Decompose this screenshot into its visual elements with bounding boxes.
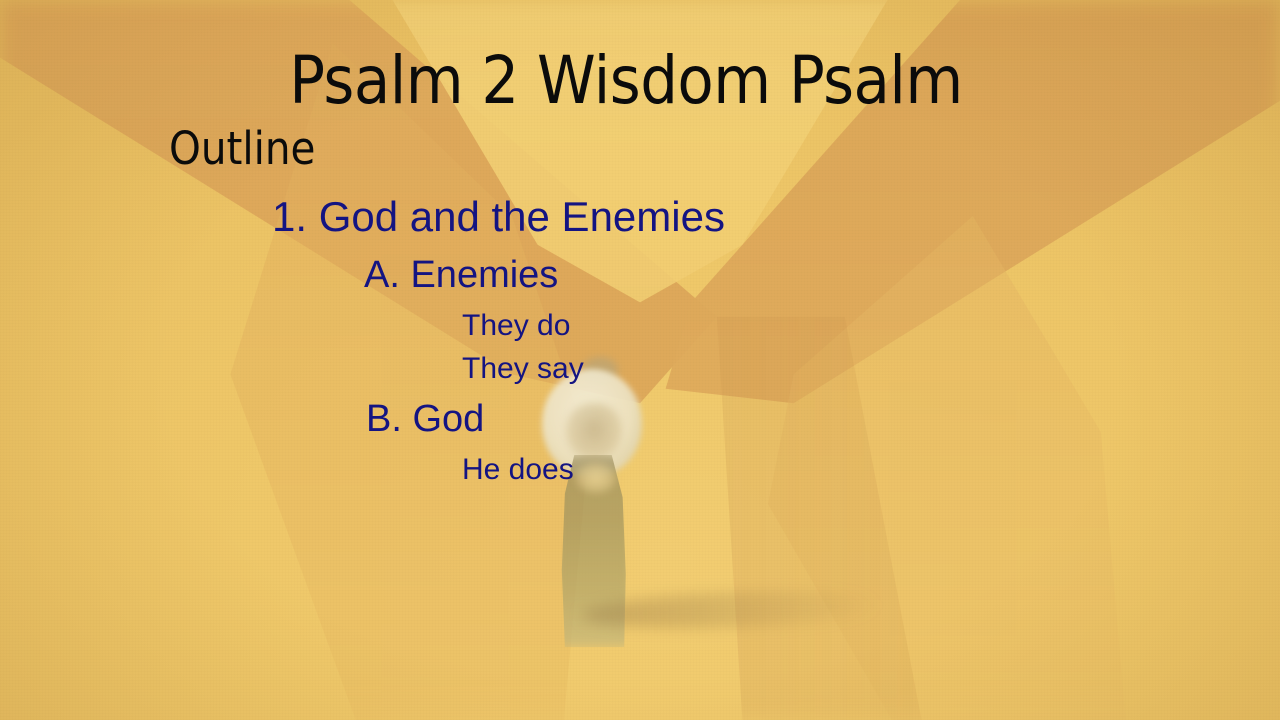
outline-item-level2-god: B. God	[366, 400, 484, 438]
outline-item-level3-they-say: They say	[462, 354, 584, 384]
outline-item-level3-he-does: He does	[462, 455, 574, 485]
outline-item-level3-they-do: They do	[462, 311, 570, 341]
slide-title: Psalm 2 Wisdom Psalm	[0, 48, 1266, 114]
outline-section-label: Outline	[169, 126, 315, 171]
presentation-slide: Psalm 2 Wisdom Psalm Outline 1. God and …	[0, 0, 1280, 720]
slide-text-layer: Psalm 2 Wisdom Psalm Outline 1. God and …	[0, 0, 1280, 720]
outline-item-level2-enemies: A. Enemies	[364, 256, 558, 294]
outline-item-level1-god-and-the-enemies: 1. God and the Enemies	[272, 196, 725, 238]
